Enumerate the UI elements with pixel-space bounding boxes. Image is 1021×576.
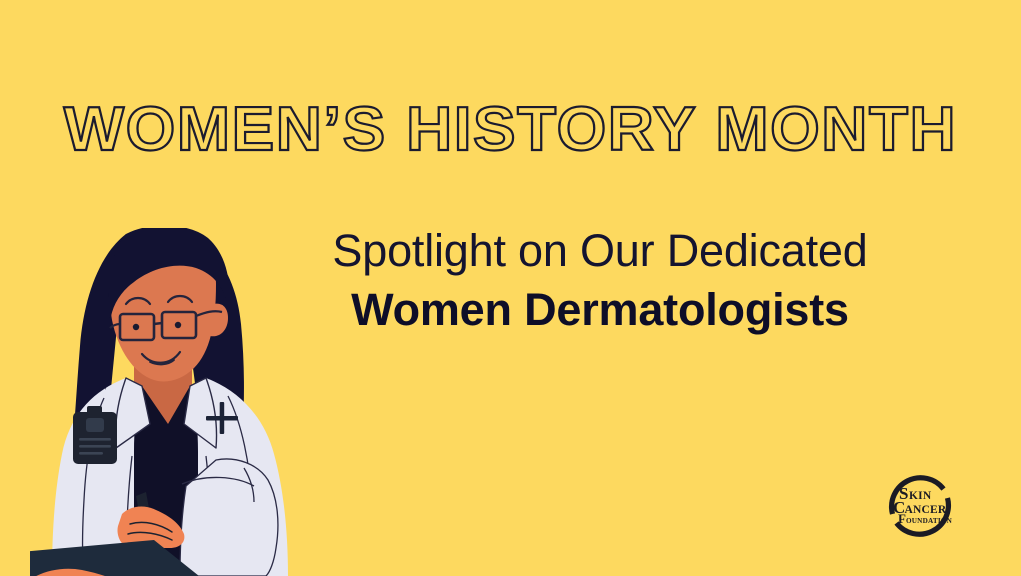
subtitle-line-2: Women Dermatologists xyxy=(290,280,910,340)
eye-left xyxy=(133,324,139,330)
poster-canvas: WOMEN’S HISTORY MONTH Spotlight on Our D… xyxy=(0,0,1021,576)
logo-word-cancer-rest: ANCER xyxy=(905,504,947,516)
logo-svg: S KIN C ANCER F OUNDATION xyxy=(884,470,956,542)
subtitle-line-1: Spotlight on Our Dedicated xyxy=(290,222,910,280)
woman-dermatologist-illustration xyxy=(30,228,320,576)
illustration-svg xyxy=(30,228,320,576)
page-title: WOMEN’S HISTORY MONTH xyxy=(0,96,1021,164)
skin-cancer-foundation-logo[interactable]: S KIN C ANCER F OUNDATION xyxy=(884,470,956,542)
logo-word-foundation-rest: OUNDATION xyxy=(906,517,953,525)
subtitle-block: Spotlight on Our Dedicated Women Dermato… xyxy=(290,222,910,340)
logo-word-foundation-cap: F xyxy=(898,511,906,526)
eye-right xyxy=(175,322,181,328)
logo-word-skin-rest: KIN xyxy=(909,490,932,502)
